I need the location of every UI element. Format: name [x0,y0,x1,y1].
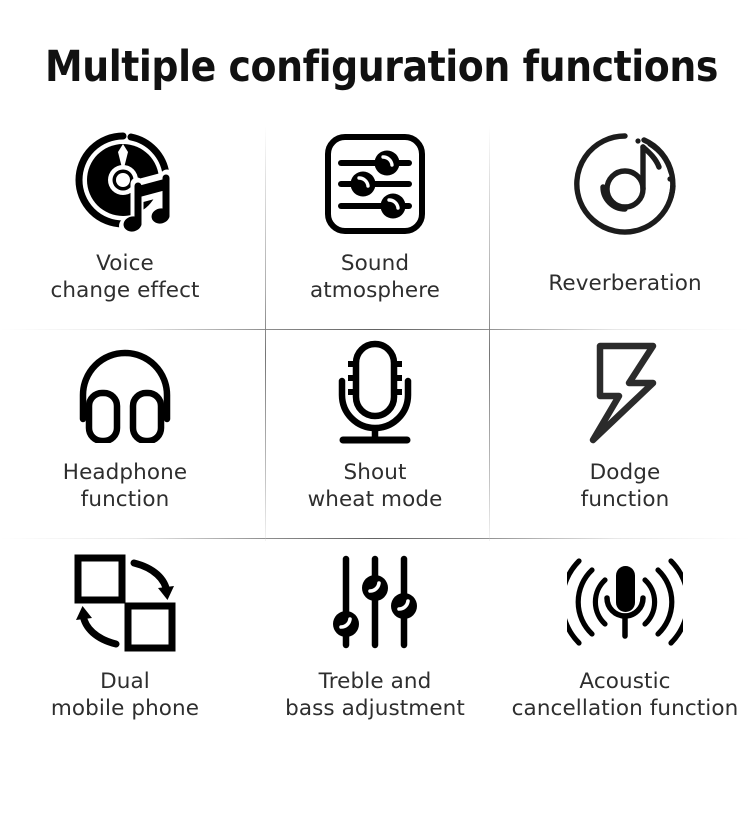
feature-label-line2: function [63,486,187,513]
feature-label: Reverberation [548,270,701,297]
feature-label: Sound atmosphere [310,250,440,305]
feature-cell-dual-mobile-phone[interactable]: Dual mobile phone [0,538,250,747]
grid-divider-vertical-2 [489,126,490,541]
feature-label-line2: function [581,486,670,513]
feature-label-line1: Headphone [63,459,187,486]
feature-label-line2: cancellation function [512,695,739,722]
dual-squares-swap-arrows-icon [72,546,178,658]
feature-label-line1: Shout [308,459,443,486]
feature-grid: Voice change effect Sound [0,120,750,747]
microphone-sound-waves-icon [567,546,683,658]
feature-label: Voice change effect [50,250,199,305]
vinyl-record-music-note-icon [69,128,181,240]
feature-cell-voice-change-effect[interactable]: Voice change effect [0,120,250,329]
vertical-sliders-icon [329,546,421,658]
circle-music-note-icon [572,128,678,240]
feature-cell-dodge-function[interactable]: Dodge function [500,329,750,538]
feature-label-line1: Sound [310,250,440,277]
feature-label: Dodge function [581,459,670,514]
feature-label-line2: change effect [50,277,199,304]
feature-label-line2: mobile phone [51,695,199,722]
headphone-icon [70,337,180,449]
feature-label-line1: Treble and [285,668,465,695]
feature-cell-shout-wheat-mode[interactable]: Shout wheat mode [250,329,500,538]
feature-cell-reverberation[interactable]: Reverberation [500,120,750,329]
feature-cell-headphone-function[interactable]: Headphone function [0,329,250,538]
feature-cell-sound-atmosphere[interactable]: Sound atmosphere [250,120,500,329]
feature-label: Dual mobile phone [51,668,199,723]
lightning-bolt-icon [583,337,667,449]
grid-divider-vertical-1 [265,126,266,541]
feature-label-line2: bass adjustment [285,695,465,722]
feature-label-line1: Acoustic [512,668,739,695]
feature-label: Headphone function [63,459,187,514]
page-title: Multiple configuration functions [45,42,705,92]
feature-cell-treble-bass-adjustment[interactable]: Treble and bass adjustment [250,538,500,747]
microphone-icon [324,337,426,449]
feature-label-line1: Reverberation [548,270,701,297]
feature-label-line1: Voice [50,250,199,277]
feature-label-line2: atmosphere [310,277,440,304]
feature-label: Treble and bass adjustment [285,668,465,723]
grid-divider-horizontal-2 [0,538,750,539]
grid-divider-horizontal-1 [0,329,750,330]
feature-label-line1: Dodge [581,459,670,486]
feature-label-line1: Dual [51,668,199,695]
feature-cell-acoustic-cancellation[interactable]: Acoustic cancellation function [500,538,750,747]
feature-label-line2: wheat mode [308,486,443,513]
feature-label: Acoustic cancellation function [512,668,739,723]
horizontal-sliders-icon [323,128,427,240]
feature-label: Shout wheat mode [308,459,443,514]
